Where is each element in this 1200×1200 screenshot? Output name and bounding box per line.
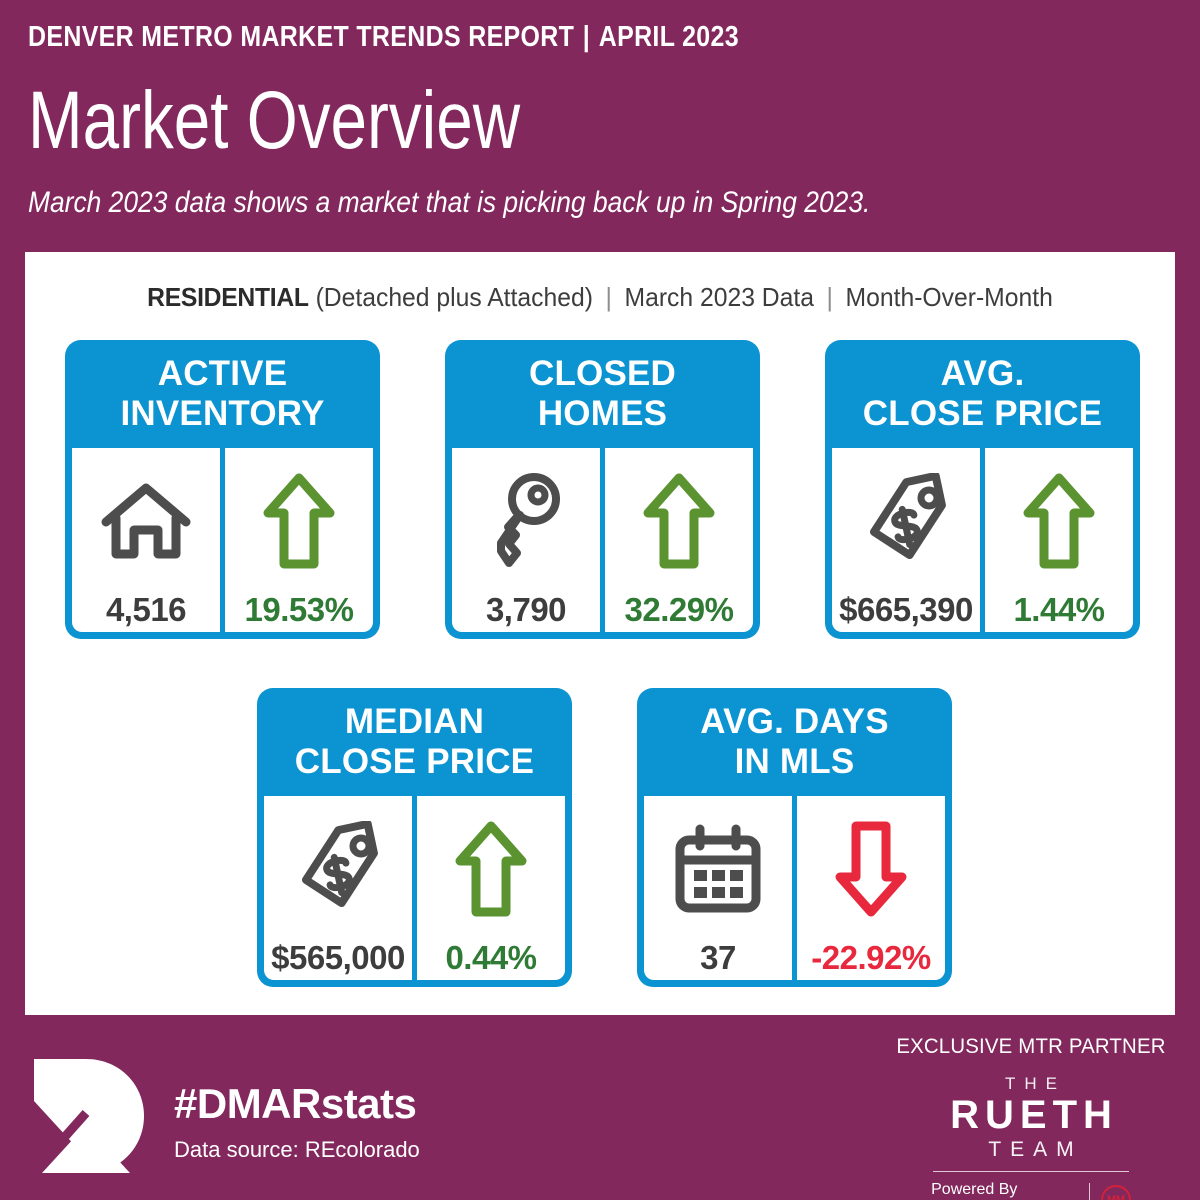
price-tag-icon [832, 448, 980, 593]
report-header: DENVER METRO MARKET TRENDS REPORT|APRIL … [28, 22, 1168, 220]
arrow-up-icon [417, 796, 565, 941]
stat-value-cell: 3,790 [452, 448, 600, 632]
movement-mortgage-icon: MM [1101, 1185, 1131, 1200]
stat-change-cell: 0.44% [417, 796, 565, 980]
caption-separator-2: | [821, 282, 839, 312]
partner-label: EXCLUSIVE MTR PARTNER [890, 1035, 1171, 1059]
stat-value-cell: $665,390 [832, 448, 980, 632]
powered-by-label: Powered By Movement Mortgage [931, 1181, 1078, 1200]
kicker-title: DENVER METRO MARKET TRENDS REPORT [28, 21, 574, 53]
report-kicker: DENVER METRO MARKET TRENDS REPORT|APRIL … [28, 22, 1008, 54]
stat-card-row-bottom: MEDIAN CLOSE PRICE $565,000 [257, 688, 952, 987]
stats-panel: RESIDENTIAL (Detached plus Attached) | M… [25, 252, 1175, 1015]
arrow-up-icon [605, 448, 753, 593]
stat-card-body: $665,390 1.44% [832, 448, 1133, 632]
stat-card-body: $565,000 0.44% [264, 796, 565, 980]
stat-card-body: 37 -22.92% [644, 796, 945, 980]
stat-card-median-close-price[interactable]: MEDIAN CLOSE PRICE $565,000 [257, 688, 572, 987]
panel-caption: RESIDENTIAL (Detached plus Attached) | M… [54, 282, 1147, 313]
stat-card-active-inventory[interactable]: ACTIVE INVENTORY 4,516 [65, 340, 380, 639]
stat-card-title: AVG. DAYS IN MLS [644, 688, 945, 796]
stat-card-title: ACTIVE INVENTORY [72, 340, 373, 448]
stat-change-cell: -22.92% [797, 796, 945, 980]
page-title: Market Overview [28, 80, 940, 162]
stat-card-row-top: ACTIVE INVENTORY 4,516 [65, 340, 1140, 639]
stat-percent-change: 19.53% [245, 593, 354, 626]
stat-value-cell: $565,000 [264, 796, 412, 980]
caption-segment-period: Month-Over-Month [846, 282, 1053, 312]
rueth-logo-name: RUETH [886, 1094, 1176, 1137]
price-tag-icon [264, 796, 412, 941]
dmar-logo [30, 1055, 148, 1182]
stat-card-title: CLOSED HOMES [452, 340, 753, 448]
stat-card-body: 3,790 32.29% [452, 448, 753, 632]
kicker-date: APRIL 2023 [599, 21, 739, 53]
caption-segment-type: RESIDENTIAL [147, 282, 309, 312]
key-icon [452, 448, 600, 593]
stat-change-cell: 1.44% [985, 448, 1133, 632]
data-source-label: Data source: REcolorado [174, 1139, 420, 1161]
stat-card-avg-close-price[interactable]: AVG. CLOSE PRICE $665,390 [825, 340, 1140, 639]
arrow-up-icon [985, 448, 1133, 593]
house-icon [72, 448, 220, 593]
rueth-logo-the: THE [886, 1075, 1176, 1092]
stat-percent-change: 1.44% [1013, 593, 1104, 626]
powered-by-block: Powered By Movement Mortgage MM [886, 1181, 1176, 1200]
dmar-hashtag: #DMARstats [174, 1083, 420, 1125]
rueth-logo-divider [933, 1171, 1129, 1172]
stat-percent-change: 32.29% [625, 593, 734, 626]
stat-card-title: MEDIAN CLOSE PRICE [264, 688, 565, 796]
stat-card-title: AVG. CLOSE PRICE [832, 340, 1133, 448]
page-subtitle: March 2023 data shows a market that is p… [28, 186, 1031, 220]
stat-value-cell: 37 [644, 796, 792, 980]
stat-percent-change: -22.92% [811, 941, 930, 974]
caption-segment-paren: (Detached plus Attached) [316, 282, 593, 312]
powered-by-divider [1089, 1183, 1090, 1200]
stat-value: $665,390 [839, 593, 973, 626]
stat-value: 4,516 [106, 593, 186, 626]
stat-value: 3,790 [486, 593, 566, 626]
stat-card-closed-homes[interactable]: CLOSED HOMES 3,790 [445, 340, 760, 639]
caption-separator-1: | [600, 282, 618, 312]
footer-branding: #DMARstats Data source: REcolorado [30, 1055, 420, 1182]
dmar-text-block: #DMARstats Data source: REcolorado [174, 1077, 420, 1161]
arrow-down-icon [797, 796, 945, 941]
stat-percent-change: 0.44% [445, 941, 536, 974]
stat-change-cell: 32.29% [605, 448, 753, 632]
caption-segment-data: March 2023 Data [625, 282, 814, 312]
arrow-up-icon [225, 448, 373, 593]
stat-value: $565,000 [271, 941, 405, 974]
kicker-divider: | [574, 22, 599, 54]
stat-value-cell: 4,516 [72, 448, 220, 632]
calendar-icon [644, 796, 792, 941]
stat-change-cell: 19.53% [225, 448, 373, 632]
stat-card-body: 4,516 19.53% [72, 448, 373, 632]
rueth-team-logo: THE RUETH TEAM Powered By Movement Mortg… [886, 1075, 1176, 1200]
stat-card-avg-days-in-mls[interactable]: AVG. DAYS IN MLS [637, 688, 952, 987]
rueth-logo-team: TEAM [886, 1139, 1176, 1160]
stat-value: 37 [700, 941, 736, 974]
partner-branding: EXCLUSIVE MTR PARTNER THE RUETH TEAM Pow… [886, 1035, 1176, 1200]
